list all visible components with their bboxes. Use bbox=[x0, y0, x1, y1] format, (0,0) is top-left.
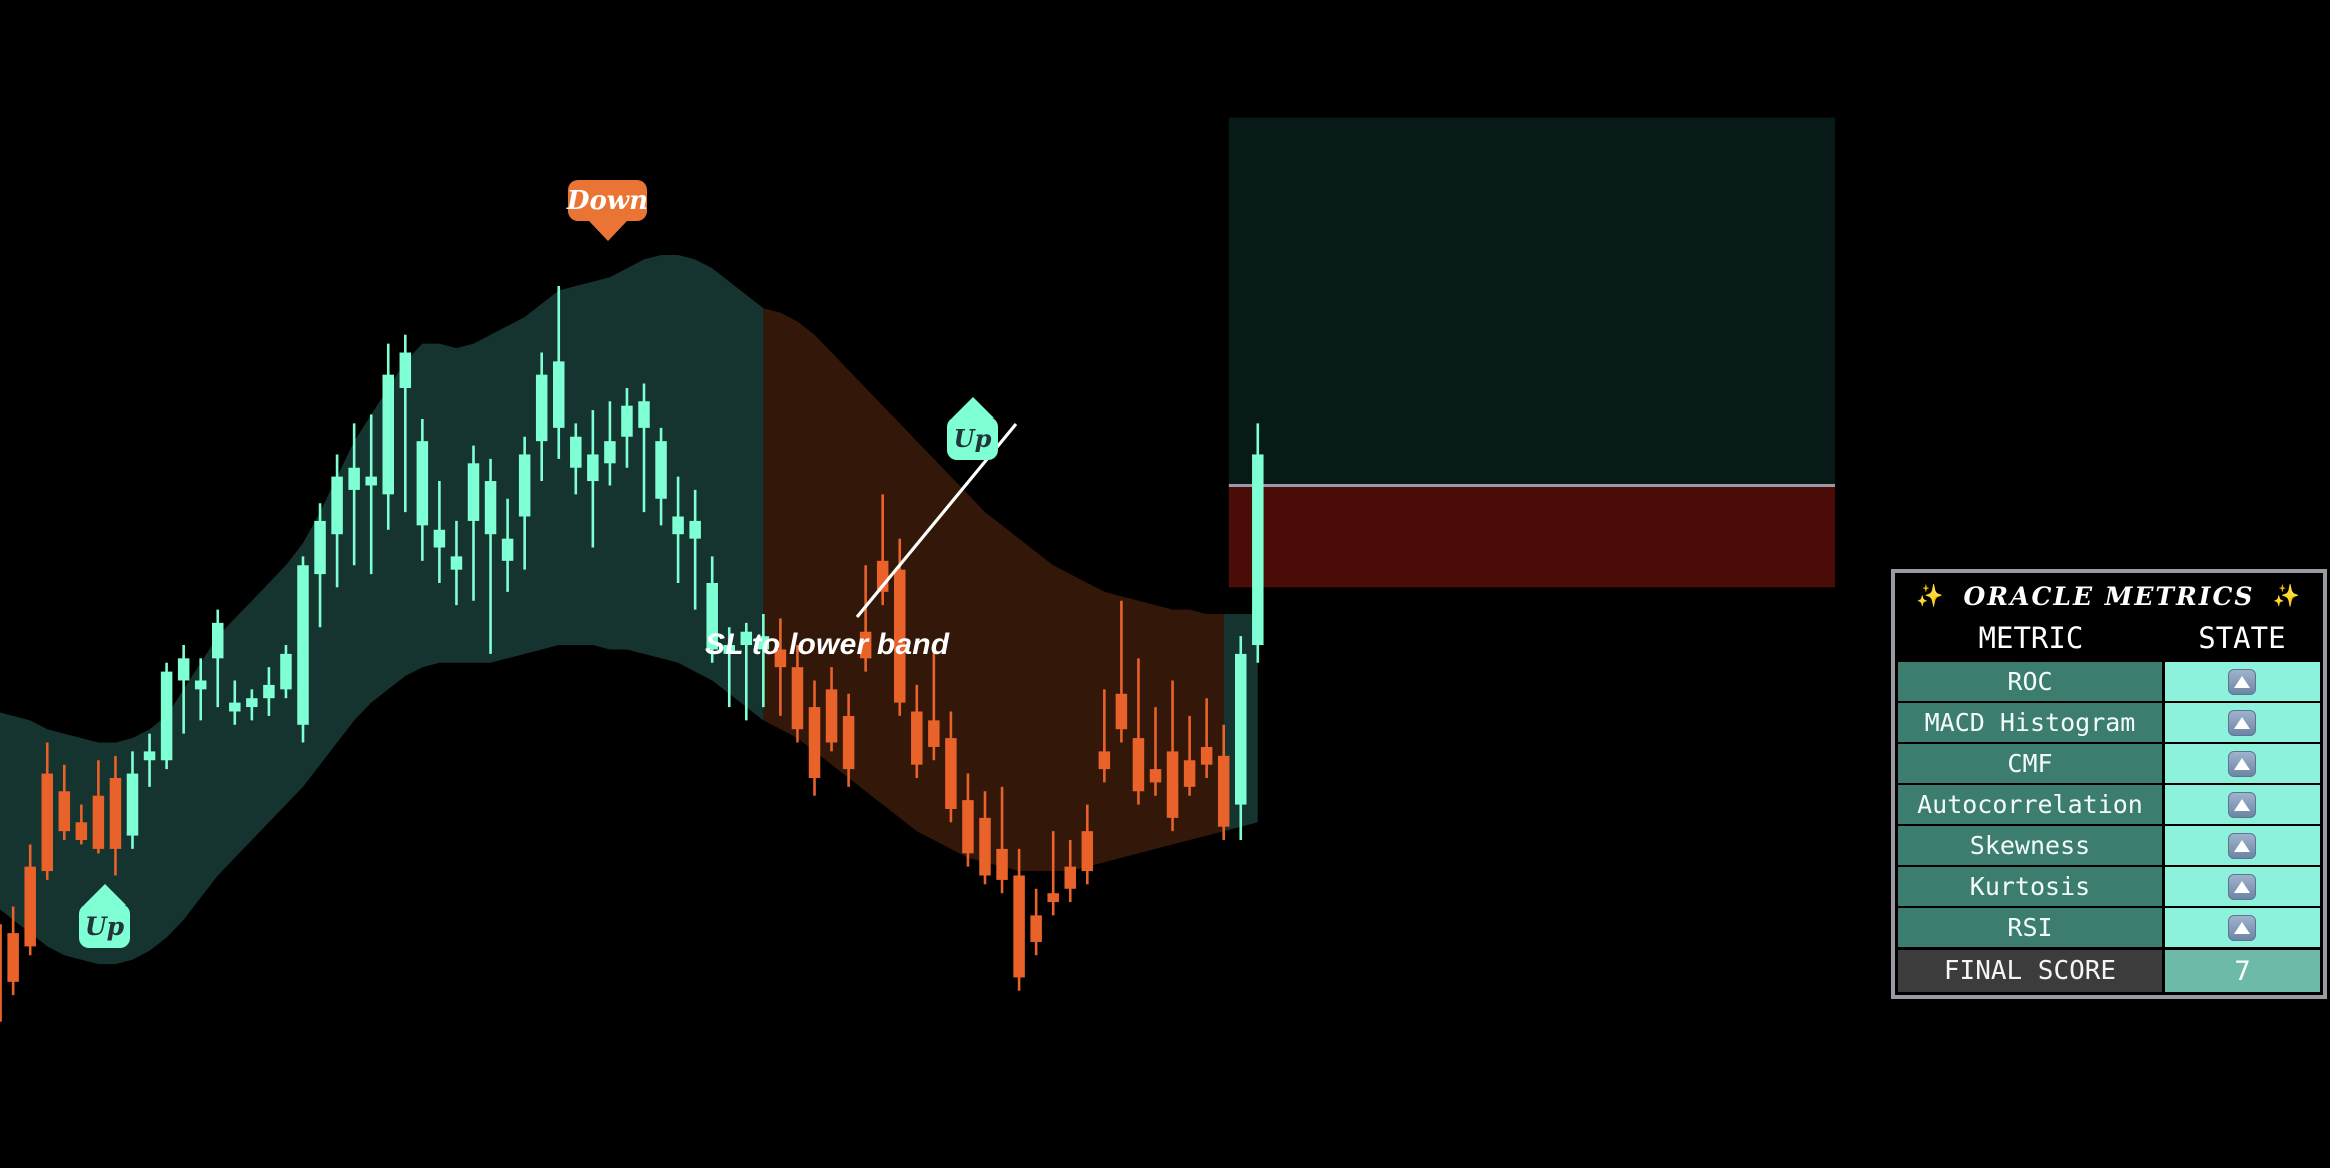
candle-body bbox=[1013, 875, 1025, 977]
candle-body bbox=[0, 924, 2, 1022]
candle-body bbox=[1167, 751, 1179, 817]
oracle-metric-row: Autocorrelation bbox=[1898, 785, 2320, 824]
candle-body bbox=[1252, 454, 1264, 645]
triangle-up-icon bbox=[2228, 833, 2256, 859]
candle-body bbox=[570, 437, 582, 468]
candle-body bbox=[7, 933, 19, 982]
candle-body bbox=[689, 521, 701, 539]
stop-loss-zone bbox=[1229, 485, 1835, 587]
candle-body bbox=[979, 818, 991, 876]
take-profit-zone bbox=[1229, 118, 1835, 486]
candle-body bbox=[1150, 769, 1162, 782]
metric-state-cell bbox=[2165, 785, 2320, 824]
candle-body bbox=[42, 774, 54, 872]
metric-state-cell bbox=[2165, 867, 2320, 906]
signal-marker-label: Up bbox=[85, 912, 124, 941]
metric-state-cell bbox=[2165, 662, 2320, 701]
marker-pointer-icon bbox=[952, 397, 994, 418]
metric-name: MACD Histogram bbox=[1898, 703, 2162, 742]
candle-body bbox=[383, 375, 395, 495]
metric-name: CMF bbox=[1898, 744, 2162, 783]
candle-body bbox=[672, 516, 684, 534]
candle-body bbox=[1082, 831, 1094, 871]
signal-marker-down-1[interactable]: Down bbox=[568, 180, 647, 221]
candle-body bbox=[246, 698, 258, 707]
candle-body bbox=[485, 481, 497, 534]
candle-body bbox=[178, 658, 190, 680]
candle-body bbox=[348, 468, 360, 490]
candle-body bbox=[962, 800, 974, 853]
sl-callout-text: SL to lower band bbox=[705, 628, 949, 662]
oracle-column-headers: METRIC STATE bbox=[1898, 616, 2320, 660]
candle-body bbox=[911, 712, 923, 765]
metric-name: Kurtosis bbox=[1898, 867, 2162, 906]
triangle-up-icon bbox=[2228, 710, 2256, 736]
candle-body bbox=[621, 406, 633, 437]
marker-pointer-icon bbox=[589, 221, 627, 241]
candle-body bbox=[144, 751, 156, 760]
candle-body bbox=[1116, 694, 1128, 729]
candle-body bbox=[826, 689, 838, 742]
oracle-metric-row: ROC bbox=[1898, 662, 2320, 701]
triangle-up-icon bbox=[2228, 874, 2256, 900]
oracle-metric-row: RSI bbox=[1898, 908, 2320, 947]
candle-body bbox=[59, 791, 71, 831]
candle-body bbox=[1099, 751, 1111, 769]
metric-state-cell bbox=[2165, 744, 2320, 783]
metric-name: ROC bbox=[1898, 662, 2162, 701]
triangle-up-icon bbox=[2228, 915, 2256, 941]
chart-canvas: Up Down Up SL to lower band ✨ ORACLE MET… bbox=[0, 0, 2330, 1168]
metric-state-cell bbox=[2165, 703, 2320, 742]
candle-body bbox=[229, 703, 241, 712]
candle-body bbox=[417, 441, 429, 525]
candle-body bbox=[451, 556, 463, 569]
candle-body bbox=[110, 778, 122, 849]
candle-body bbox=[127, 774, 139, 836]
candle-body bbox=[519, 454, 531, 516]
candle-body bbox=[263, 685, 275, 698]
candle-body bbox=[331, 477, 343, 535]
candle-body bbox=[638, 401, 650, 428]
oracle-panel-title-text: ORACLE METRICS bbox=[1964, 582, 2255, 611]
candle-body bbox=[1184, 760, 1196, 787]
metric-state-cell bbox=[2165, 826, 2320, 865]
marker-pointer-icon bbox=[84, 884, 126, 905]
candle-body bbox=[314, 521, 326, 574]
signal-marker-label: Up bbox=[954, 424, 992, 453]
signal-marker-label: Down bbox=[567, 186, 648, 216]
candle-body bbox=[604, 441, 616, 463]
candle-body bbox=[297, 565, 309, 725]
triangle-up-icon bbox=[2228, 669, 2256, 695]
column-header-metric: METRIC bbox=[1898, 616, 2164, 660]
triangle-up-icon bbox=[2228, 792, 2256, 818]
candle-body bbox=[792, 667, 804, 729]
candle-body bbox=[945, 738, 957, 809]
candle-body bbox=[928, 720, 940, 747]
candle-body bbox=[1030, 915, 1042, 942]
triangle-up-icon bbox=[2228, 751, 2256, 777]
candle-body bbox=[1065, 867, 1077, 889]
candle-body bbox=[587, 454, 599, 481]
candle-body bbox=[1133, 738, 1145, 791]
oracle-metric-row: MACD Histogram bbox=[1898, 703, 2320, 742]
candle-body bbox=[434, 530, 446, 548]
candle-body bbox=[843, 716, 855, 769]
candle-body bbox=[93, 796, 105, 849]
candle-body bbox=[280, 654, 292, 689]
candle-body bbox=[1201, 747, 1213, 765]
candle-body bbox=[996, 849, 1008, 880]
candle-body bbox=[76, 822, 88, 840]
sparkle-icon-left: ✨ bbox=[1916, 584, 1945, 609]
oracle-panel-title: ✨ ORACLE METRICS ✨ bbox=[1898, 576, 2320, 616]
candle-body bbox=[161, 672, 173, 761]
final-score-label: FINAL SCORE bbox=[1898, 950, 2162, 992]
candle-body bbox=[1235, 654, 1247, 805]
oracle-metric-row: Skewness bbox=[1898, 826, 2320, 865]
candle-body bbox=[536, 375, 548, 441]
oracle-metric-rows: ROCMACD HistogramCMFAutocorrelationSkewn… bbox=[1898, 660, 2320, 947]
candle-body bbox=[1047, 893, 1059, 902]
sparkle-icon-right: ✨ bbox=[2272, 584, 2301, 609]
column-header-state: STATE bbox=[2164, 616, 2320, 660]
candle-body bbox=[809, 707, 821, 778]
oracle-metrics-panel: ✨ ORACLE METRICS ✨ METRIC STATE ROCMACD … bbox=[1891, 569, 2327, 999]
metric-name: Skewness bbox=[1898, 826, 2162, 865]
candle-body bbox=[24, 867, 36, 947]
candle-body bbox=[553, 361, 565, 427]
candle-body bbox=[365, 477, 377, 486]
final-score-value: 7 bbox=[2165, 950, 2320, 992]
signal-marker-up-2[interactable]: Up bbox=[947, 417, 998, 460]
candle-body bbox=[400, 353, 412, 388]
metric-name: Autocorrelation bbox=[1898, 785, 2162, 824]
oracle-metric-row: CMF bbox=[1898, 744, 2320, 783]
candle-body bbox=[655, 441, 667, 499]
metric-name: RSI bbox=[1898, 908, 2162, 947]
candle-body bbox=[1218, 756, 1230, 827]
candle-body bbox=[502, 539, 513, 561]
metric-state-cell bbox=[2165, 908, 2320, 947]
candle-body bbox=[212, 623, 224, 658]
candle-body bbox=[468, 463, 480, 521]
signal-marker-up-1[interactable]: Up bbox=[79, 904, 130, 948]
candle-body bbox=[195, 680, 207, 689]
final-score-row: FINAL SCORE 7 bbox=[1898, 950, 2320, 992]
oracle-metric-row: Kurtosis bbox=[1898, 867, 2320, 906]
